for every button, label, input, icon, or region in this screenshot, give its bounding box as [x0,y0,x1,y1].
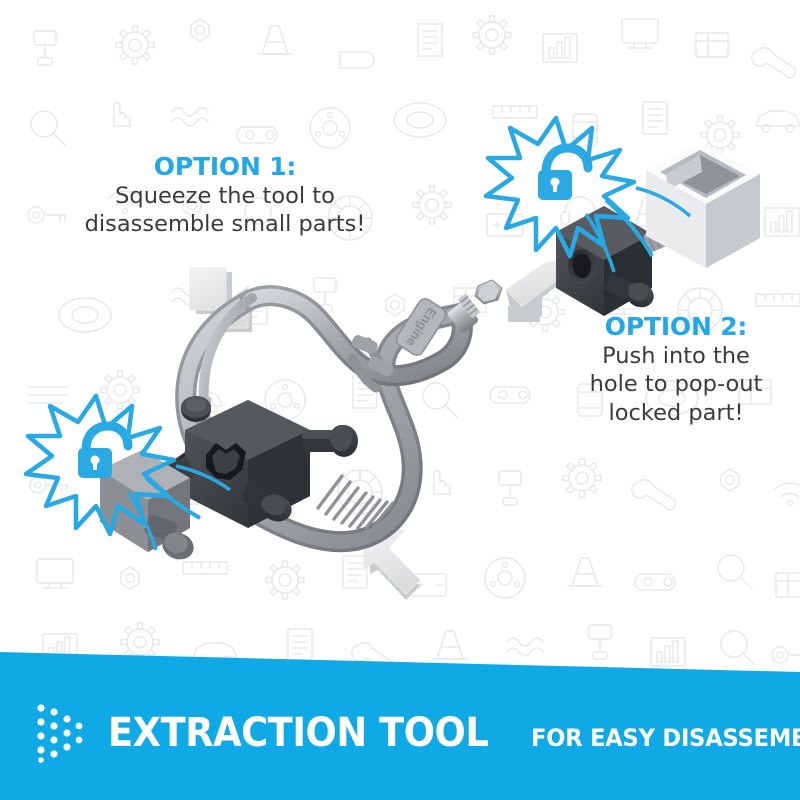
callout-option-1: OPTION 1: Squeeze the tool to disassembl… [50,152,400,239]
option-1-title: OPTION 1: [50,152,400,182]
option-1-line-1: Squeeze the tool to [50,182,400,211]
infographic-canvas: Engine [0,0,800,800]
bottom-banner: EXTRACTION TOOL FOR EASY DISASSEMBLY [0,640,800,800]
callout-option-2: OPTION 2: Push into the hole to pop-out … [560,312,792,428]
unlock-padlock-icon [538,148,588,200]
option-2-title: OPTION 2: [560,312,792,342]
dot-chevron-logo [34,702,90,764]
banner-subtitle: FOR EASY DISASSEMBLY [531,726,800,750]
option-2-line-3: locked part! [560,399,792,428]
option-2-line-1: Push into the [560,342,792,371]
connector-knob-top [181,396,211,422]
banner-title: EXTRACTION TOOL [108,713,488,753]
connector-bolt-right [302,425,358,457]
option-2-line-2: hole to pop-out [560,370,792,399]
detached-part-white-bracket [646,142,760,268]
option-1-line-2: disassemble small parts! [50,210,400,239]
